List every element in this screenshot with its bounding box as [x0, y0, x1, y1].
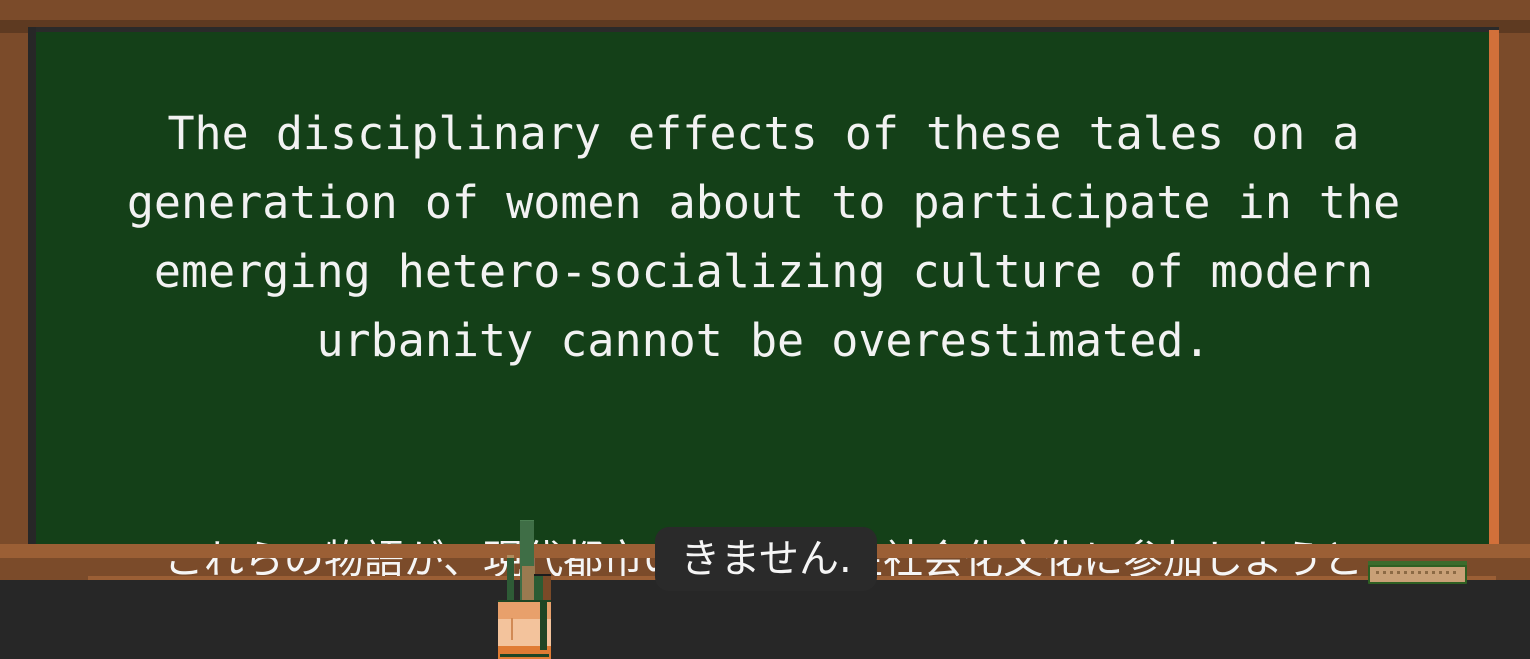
brush-b-handle	[543, 576, 551, 602]
chalk-text-layer: The disciplinary effects of these tales …	[28, 27, 1499, 547]
chalkboard-scene: The disciplinary effects of these tales …	[0, 0, 1530, 659]
brush-a-handle	[534, 576, 543, 602]
cup-side-strip	[540, 602, 547, 650]
eraser-chalk-dust	[1376, 571, 1458, 574]
desk-surface	[0, 580, 1530, 659]
cup-inner-line	[511, 618, 513, 640]
cup-base-line	[500, 654, 549, 657]
pencil-slim	[507, 558, 514, 604]
chalkboard-eraser-icon[interactable]	[1368, 565, 1467, 584]
japanese-overflow-line: きません.	[655, 527, 877, 591]
pencil-cup-icon[interactable]	[498, 588, 551, 659]
english-quote-text: The disciplinary effects of these tales …	[38, 99, 1489, 375]
